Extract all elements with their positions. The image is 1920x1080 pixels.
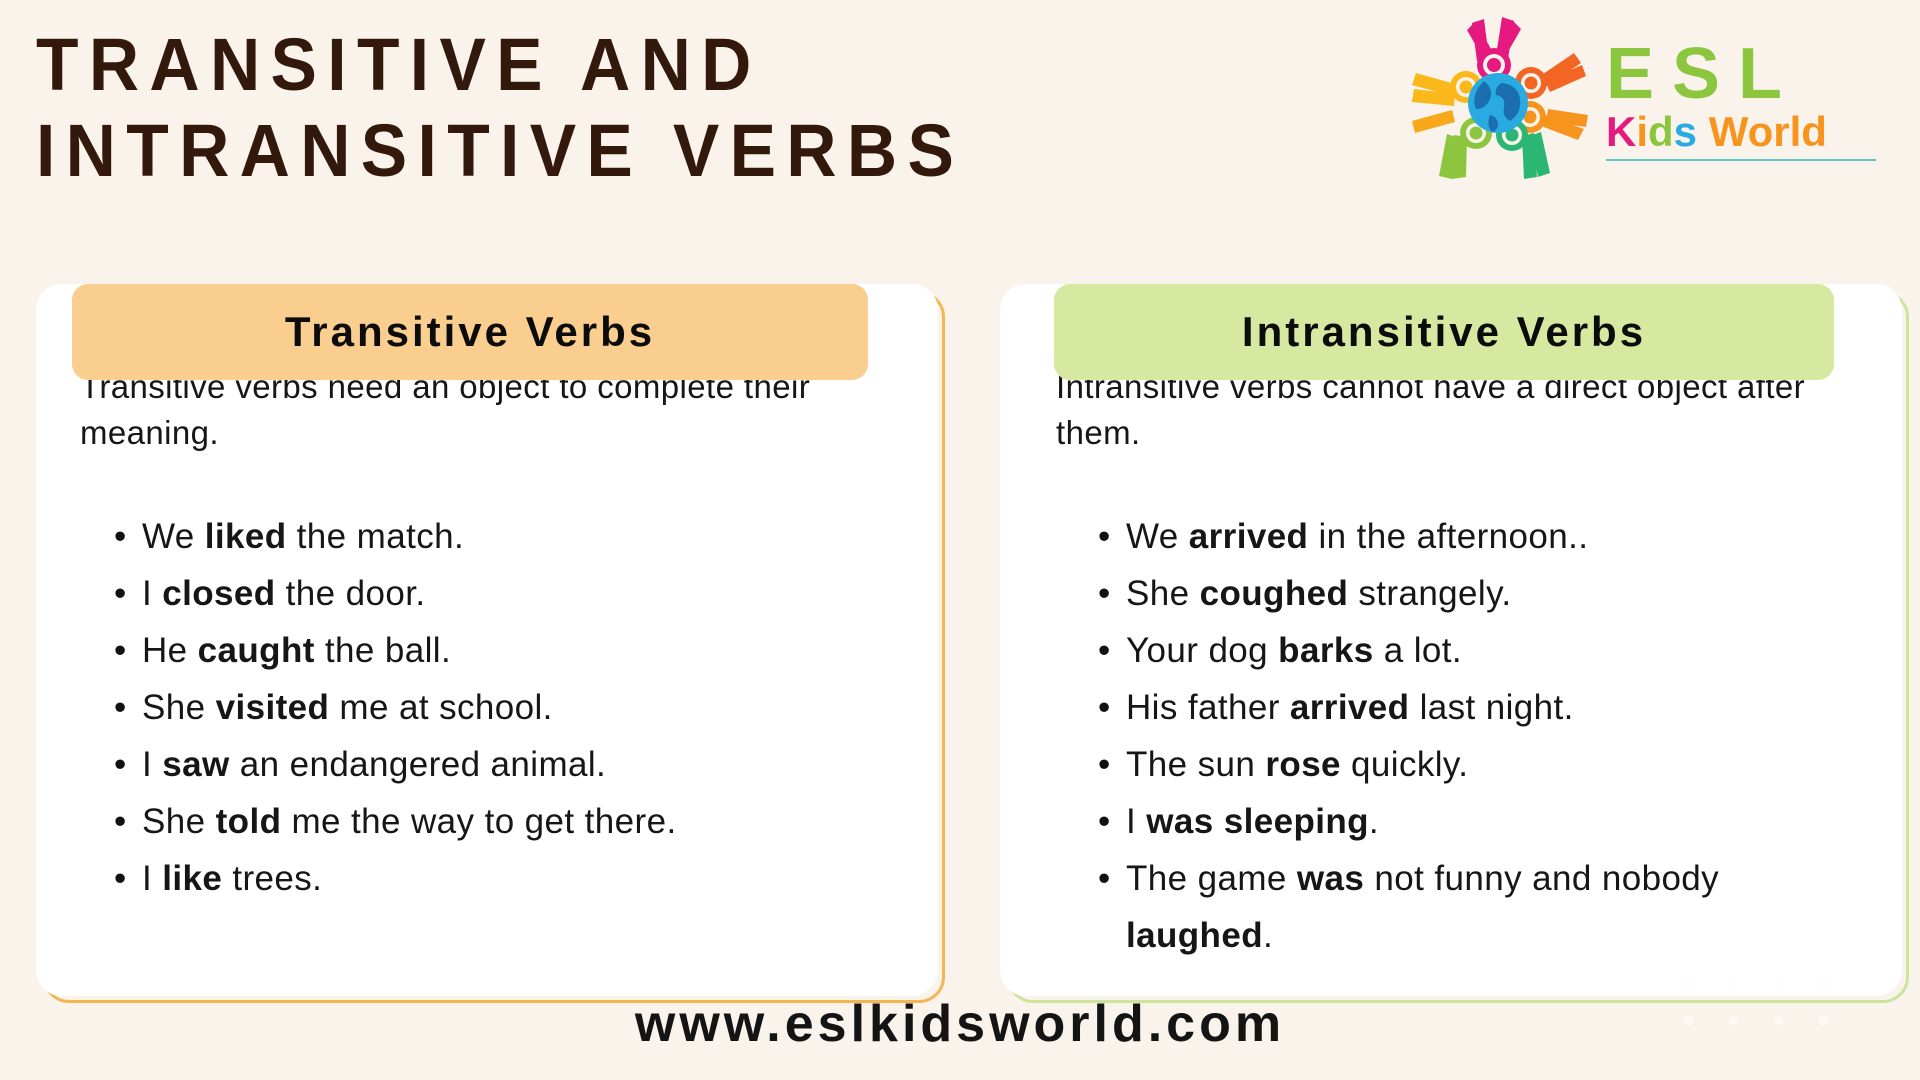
item-verb: closed — [162, 574, 275, 613]
item-verb: was — [1297, 859, 1364, 898]
item-verb: caught — [198, 631, 315, 670]
item-text-after: an endangered animal. — [230, 745, 607, 784]
item-text-before: She — [142, 802, 216, 841]
list-item: I saw an endangered animal. — [114, 736, 904, 793]
page-title: TRANSITIVE AND INTRANSITIVE VERBS — [36, 22, 1239, 194]
card-intransitive-list: We arrived in the afternoon.. She coughe… — [1046, 508, 1868, 964]
card-transitive-title: Transitive Verbs — [285, 308, 655, 356]
item-verb: liked — [205, 517, 287, 556]
item-text-after: strangely. — [1348, 574, 1511, 613]
list-item: We arrived in the afternoon.. — [1098, 508, 1868, 565]
logo-letter-d: d — [1648, 108, 1674, 155]
logo-letter-s: s — [1674, 108, 1697, 155]
footer: www.eslkidsworld.com — [0, 994, 1920, 1054]
logo-esl-text: ESL — [1606, 37, 1876, 111]
list-item: Your dog barks a lot. — [1098, 622, 1868, 679]
item-verb-2: laughed — [1126, 916, 1263, 955]
item-verb: told — [216, 802, 282, 841]
logo-letter-i: i — [1636, 108, 1648, 155]
list-item: His father arrived last night. — [1098, 679, 1868, 736]
item-verb: like — [162, 859, 222, 898]
item-text-before: I — [1126, 802, 1146, 841]
item-text-after: quickly. — [1341, 745, 1468, 784]
card-transitive: Transitive verbs need an object to compl… — [36, 284, 938, 996]
item-text-after: in the afternoon.. — [1308, 517, 1588, 556]
item-text-after: me at school. — [329, 688, 552, 727]
list-item: She coughed strangely. — [1098, 565, 1868, 622]
list-item: The sun rose quickly. — [1098, 736, 1868, 793]
card-intransitive-body: Intransitive verbs cannot have a direct … — [1000, 284, 1902, 996]
item-verb: visited — [216, 688, 330, 727]
item-text-after: trees. — [222, 859, 322, 898]
list-item: I was sleeping. — [1098, 793, 1868, 850]
content-cards: Transitive verbs need an object to compl… — [0, 232, 1920, 972]
list-item: I closed the door. — [114, 565, 904, 622]
card-intransitive-header: Intransitive Verbs — [1054, 284, 1834, 380]
card-intransitive: Intransitive verbs cannot have a direct … — [1000, 284, 1902, 996]
list-item: He caught the ball. — [114, 622, 904, 679]
logo-word-world: World — [1709, 108, 1827, 155]
item-text-before: I — [142, 745, 162, 784]
item-verb: saw — [162, 745, 229, 784]
page-header: TRANSITIVE AND INTRANSITIVE VERBS — [0, 0, 1920, 210]
logo[interactable]: ESL Kids World — [1406, 8, 1876, 183]
item-verb: was sleeping — [1146, 802, 1369, 841]
card-transitive-body: Transitive verbs need an object to compl… — [36, 284, 938, 996]
item-verb: barks — [1278, 631, 1373, 670]
logo-underline — [1606, 159, 1876, 161]
list-item: I like trees. — [114, 850, 904, 907]
item-text-after: last night. — [1409, 688, 1573, 727]
item-text-after: the match. — [287, 517, 465, 556]
list-item: She told me the way to get there. — [114, 793, 904, 850]
card-transitive-header: Transitive Verbs — [72, 284, 868, 380]
item-verb: arrived — [1189, 517, 1309, 556]
item-text-before: I — [142, 574, 162, 613]
esl-kids-world-logo-icon — [1406, 11, 1596, 181]
item-text-before: Your dog — [1126, 631, 1278, 670]
item-verb: rose — [1265, 745, 1341, 784]
item-text-before: His father — [1126, 688, 1290, 727]
logo-letter-k: K — [1606, 108, 1636, 155]
item-text-before: I — [142, 859, 162, 898]
item-text-after: a lot. — [1374, 631, 1462, 670]
logo-kids-world-text: Kids World — [1606, 109, 1876, 155]
card-transitive-list: We liked the match. I closed the door. H… — [70, 508, 904, 907]
item-text-before: We — [142, 517, 205, 556]
list-item: The game was not funny and nobody laughe… — [1098, 850, 1868, 964]
item-text-after: me the way to get there. — [281, 802, 676, 841]
card-intransitive-title: Intransitive Verbs — [1242, 308, 1646, 356]
item-text-after-2: . — [1263, 916, 1273, 955]
item-text-before: She — [1126, 574, 1200, 613]
item-verb: coughed — [1200, 574, 1349, 613]
list-item: She visited me at school. — [114, 679, 904, 736]
item-verb: arrived — [1290, 688, 1410, 727]
item-text-before: He — [142, 631, 198, 670]
item-text-after: the ball. — [315, 631, 451, 670]
item-text-after: the door. — [276, 574, 426, 613]
item-text-after: . — [1369, 802, 1379, 841]
item-text-before: She — [142, 688, 216, 727]
footer-website-url[interactable]: www.eslkidsworld.com — [635, 994, 1285, 1054]
list-item: We liked the match. — [114, 508, 904, 565]
logo-wordmark: ESL Kids World — [1606, 31, 1876, 161]
item-text-before: We — [1126, 517, 1189, 556]
item-text-mid: not funny and nobody — [1364, 859, 1719, 898]
item-text-before: The sun — [1126, 745, 1265, 784]
item-text-before: The game — [1126, 859, 1297, 898]
